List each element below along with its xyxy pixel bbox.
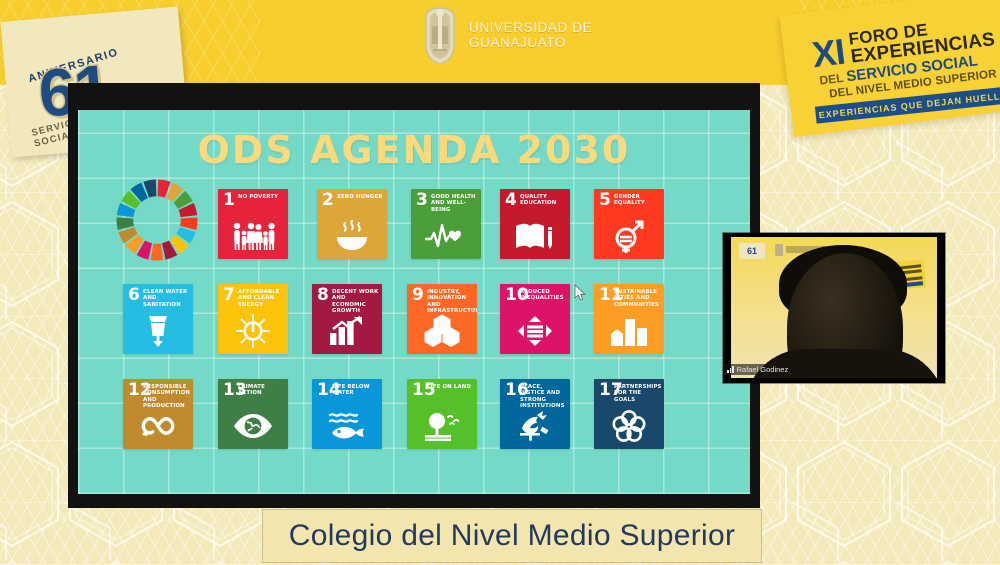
sdg-color-wheel-icon (113, 176, 201, 264)
sdg-goal-tile-2[interactable]: 2ZERO HUNGER (317, 189, 387, 259)
tree-birds-icon (407, 407, 477, 445)
webcam-video-area: 61 XI (731, 237, 937, 378)
sdg-goal-title: PEACE, JUSTICE AND STRONG INSTITUTIONS (520, 384, 567, 410)
sdg-goal-title: ZERO HUNGER (337, 194, 384, 200)
sdg-goal-title: SUSTAINABLE CITIES AND COMMUNITIES (614, 289, 661, 308)
webcam-mini-61-badge: 61 (739, 243, 765, 259)
sdg-goal-number: 1 (223, 192, 235, 209)
sdg-goal-title: CLIMATE ACTION (238, 384, 285, 397)
eye-earth-icon (218, 407, 288, 445)
sdg-goal-tile-1[interactable]: 1NO POVERTY (218, 189, 288, 259)
sdg-goal-title: PARTNERSHIPS FOR THE GOALS (614, 384, 661, 403)
sdg-goal-number: 9 (412, 287, 424, 304)
infinity-loop-icon (123, 407, 193, 445)
open-book-pencil-icon (500, 217, 570, 255)
sdg-goal-title: DECENT WORK AND ECONOMIC GROWTH (332, 289, 379, 315)
heartbeat-icon (411, 217, 481, 255)
sdg-goal-number: 7 (223, 287, 235, 304)
water-glass-arrow-icon (123, 312, 193, 350)
sdg-goal-number: 3 (416, 192, 428, 209)
caption-text: Colegio del Nivel Medio Superior (289, 519, 736, 553)
sdg-goal-tile-12[interactable]: 12RESPONSIBLE CONSUMPTION AND PRODUCTION (123, 379, 193, 449)
sdg-goal-tile-8[interactable]: 8DECENT WORK AND ECONOMIC GROWTH (312, 284, 382, 354)
forum-line3-prefix: DEL (819, 70, 848, 87)
interlocking-circles-icon (594, 407, 664, 445)
sdg-goal-title: GENDER EQUALITY (614, 194, 661, 207)
webcam-tile[interactable]: 61 XI Rafael Godinez (723, 233, 945, 383)
sdg-goal-title: QUALITY EDUCATION (520, 194, 567, 207)
gender-equality-icon (594, 217, 664, 255)
university-branding: UNIVERSIDAD DE GUANAJUATO (420, 4, 592, 66)
sdg-goal-number: 4 (505, 192, 517, 209)
sdg-goal-tile-10[interactable]: 10REDUCED INEQUALITIES (500, 284, 570, 354)
sdg-goal-title: CLEAN WATER AND SANITATION (143, 289, 190, 308)
sdg-goal-tile-3[interactable]: 3GOOD HEALTH AND WELL-BEING (411, 189, 481, 259)
fish-waves-icon (312, 407, 382, 445)
city-buildings-icon (594, 312, 664, 350)
university-wordmark: UNIVERSIDAD DE GUANAJUATO (469, 20, 592, 50)
sdg-goal-title: GOOD HEALTH AND WELL-BEING (431, 194, 478, 213)
dove-gavel-icon (500, 407, 570, 445)
sdg-goal-number: 8 (317, 287, 329, 304)
four-arrows-equal-icon (500, 312, 570, 350)
sdg-goal-tile-14[interactable]: 14LIFE BELOW WATER (312, 379, 382, 449)
sdg-goal-tile-16[interactable]: 16PEACE, JUSTICE AND STRONG INSTITUTIONS (500, 379, 570, 449)
sdg-goal-tile-13[interactable]: 13CLIMATE ACTION (218, 379, 288, 449)
slide-title: ODS AGENDA 2030 (78, 128, 750, 172)
sdg-goal-tile-5[interactable]: 5GENDER EQUALITY (594, 189, 664, 259)
sdg-goal-title: INDUSTRY, INNOVATION AND INFRASTRUCTURE (427, 289, 474, 315)
forum-roman-numeral: XI (810, 35, 846, 73)
sdg-goal-title: LIFE ON LAND (427, 384, 474, 390)
growth-chart-icon (312, 312, 382, 350)
caption-banner: Colegio del Nivel Medio Superior (262, 509, 762, 563)
participant-name: Rafael Godinez (737, 365, 789, 374)
sdg-goal-title: AFFORDABLE AND CLEAN ENERGY (238, 289, 285, 308)
sdg-goal-tile-17[interactable]: 17PARTNERSHIPS FOR THE GOALS (594, 379, 664, 449)
sdg-goal-number: 5 (599, 192, 611, 209)
steaming-bowl-icon (317, 217, 387, 255)
sdg-goal-tile-6[interactable]: 6CLEAN WATER AND SANITATION (123, 284, 193, 354)
webcam-name-label: Rafael Godinez (724, 364, 793, 375)
webcam-mini-crest-icon (775, 244, 783, 256)
sdg-goal-title: LIFE BELOW WATER (332, 384, 379, 397)
sdg-goal-tile-9[interactable]: 9INDUSTRY, INNOVATION AND INFRASTRUCTURE (407, 284, 477, 354)
sun-power-icon (218, 312, 288, 350)
sdg-goal-number: 6 (128, 287, 140, 304)
university-name-line1: UNIVERSIDAD DE (469, 20, 592, 35)
cubes-icon (407, 312, 477, 350)
sdg-goal-number: 2 (322, 192, 334, 209)
university-name-line2: GUANAJUATO (469, 35, 592, 50)
signal-bars-icon (727, 366, 734, 373)
sdg-goal-title: REDUCED INEQUALITIES (520, 289, 567, 302)
mouse-pointer-icon (574, 284, 586, 302)
screen-stage: UNIVERSIDAD DE GUANAJUATO ANIVERSARIO 61… (0, 0, 1000, 565)
sdg-goal-tile-7[interactable]: 7AFFORDABLE AND CLEAN ENERGY (218, 284, 288, 354)
sdg-goal-title: RESPONSIBLE CONSUMPTION AND PRODUCTION (143, 384, 190, 410)
sdg-goal-tile-15[interactable]: 15LIFE ON LAND (407, 379, 477, 449)
sdg-goal-title: NO POVERTY (238, 194, 285, 200)
sdg-goal-tile-11[interactable]: 11SUSTAINABLE CITIES AND COMMUNITIES (594, 284, 664, 354)
university-crest-icon (420, 4, 460, 66)
sdg-goal-tile-4[interactable]: 4QUALITY EDUCATION (500, 189, 570, 259)
family-group-icon (218, 217, 288, 255)
